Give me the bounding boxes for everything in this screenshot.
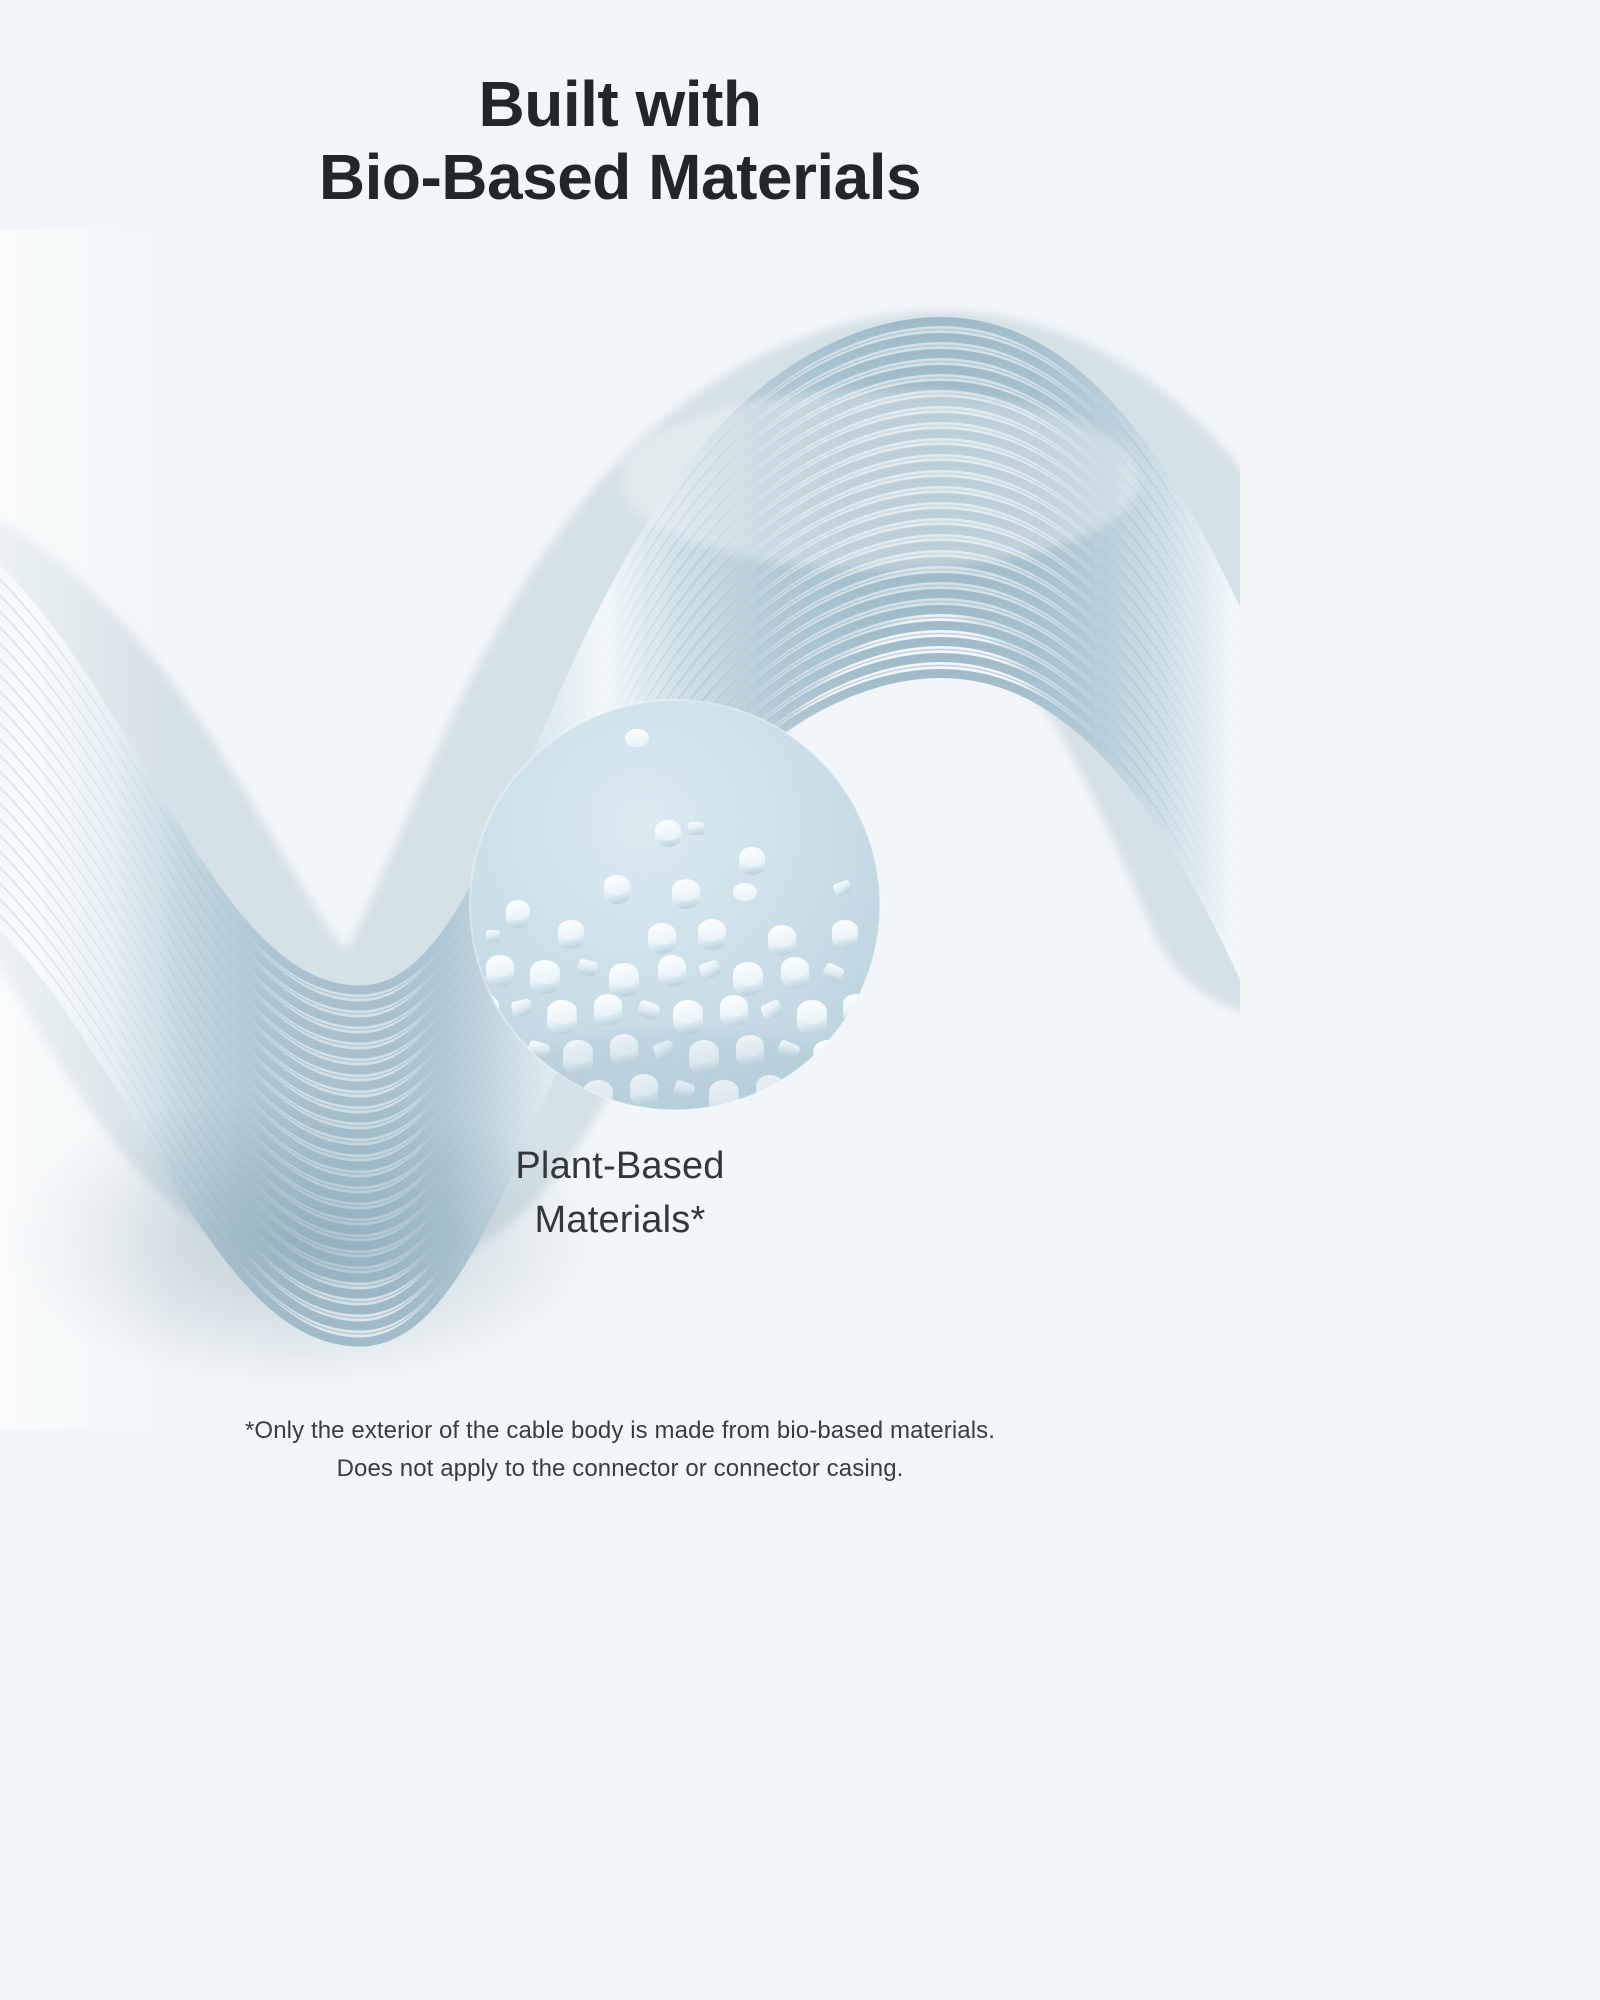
product-feature-page: Built with Bio-Based Materials [0,0,1240,1552]
pellet [733,883,757,901]
footnote-line-2: Does not apply to the connector or conne… [0,1450,1240,1488]
pellet [698,919,726,950]
headline-line-2: Bio-Based Materials [0,145,1240,210]
pellet [625,729,649,747]
pellet [558,920,584,949]
pellet [655,820,681,847]
inset-caption: Plant-Based Materials* [0,1140,1240,1248]
cable-ribbon-illustration [0,230,1240,1430]
pellet [739,847,765,875]
footnote-line-1: *Only the exterior of the cable body is … [0,1412,1240,1450]
pellet [832,920,858,949]
pellet [648,923,676,954]
pellet [768,925,796,956]
page-title: Built with Bio-Based Materials [0,72,1240,211]
pellet [506,900,530,928]
caption-line-2: Materials* [0,1194,1240,1248]
pellet [688,822,704,835]
hero-artwork [0,230,1240,1430]
headline-line-1: Built with [0,72,1240,137]
pellet [486,930,500,942]
pellet [672,879,700,909]
pellet [604,875,630,904]
footnote: *Only the exterior of the cable body is … [0,1412,1240,1488]
caption-line-1: Plant-Based [0,1140,1240,1194]
